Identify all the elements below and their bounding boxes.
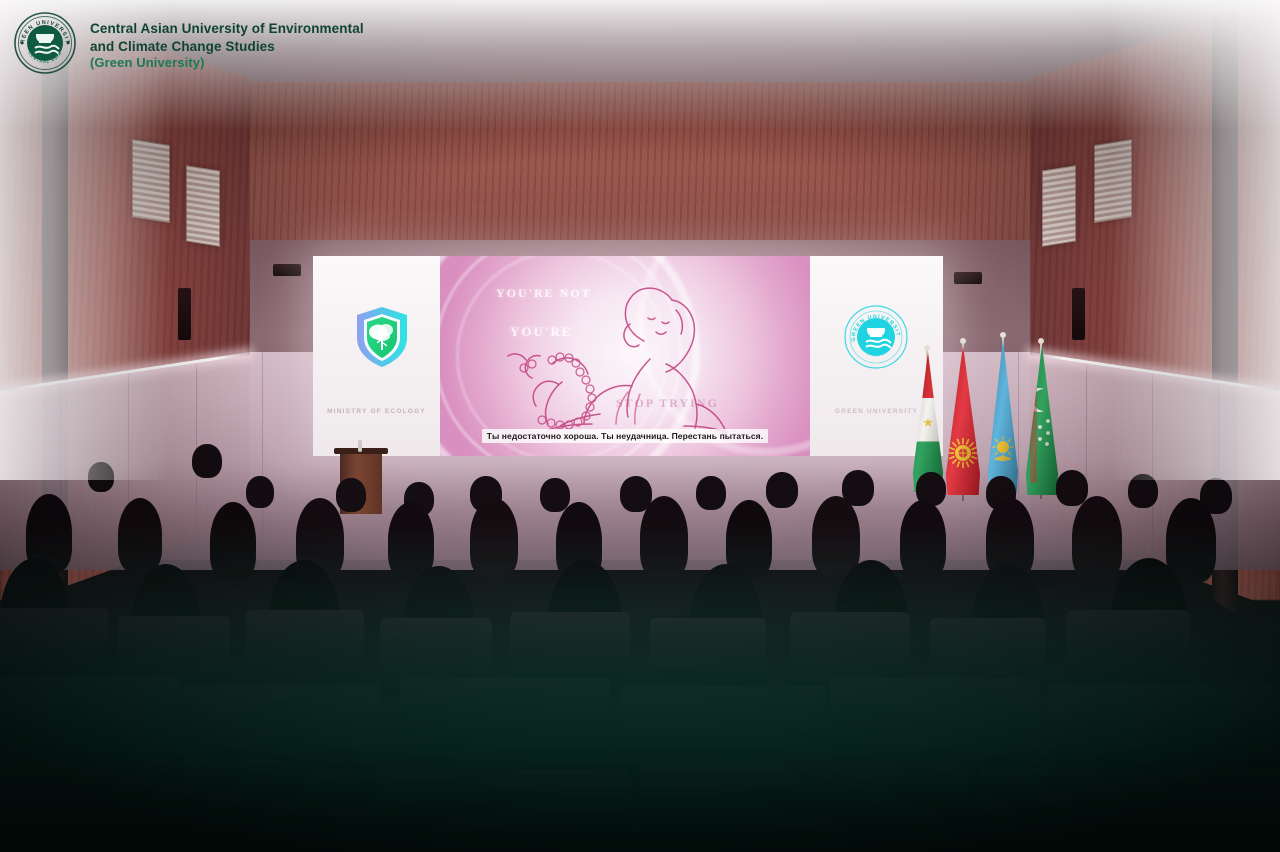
- audience-head: [470, 498, 518, 578]
- audience-head: [1166, 498, 1216, 582]
- audience-head: [336, 478, 366, 512]
- projection-screen: MINISTRY OF ECOLOGY YOU'RE NOT YOU'RE ST…: [313, 256, 943, 456]
- audience-head: [766, 472, 798, 508]
- seat-row-front: [300, 770, 630, 852]
- window-blind: [1094, 139, 1132, 223]
- seat-row-front: [0, 760, 290, 852]
- audience-head: [640, 496, 688, 578]
- audience-head: [192, 444, 222, 478]
- seat-back: [650, 618, 766, 696]
- ministry-of-ecology-caption: MINISTRY OF ECOLOGY: [313, 408, 440, 415]
- screen-video-panel: YOU'RE NOT YOU'RE STOP TRYING: [440, 256, 810, 456]
- auditorium-photo: MINISTRY OF ECOLOGY YOU'RE NOT YOU'RE ST…: [0, 0, 1280, 852]
- brand-title-line-3: (Green University): [90, 55, 364, 72]
- wall-speaker-icon: [273, 264, 301, 276]
- audience-head: [696, 476, 726, 510]
- audience-head: [246, 476, 274, 508]
- audience-head: [210, 502, 256, 580]
- wall-speaker-icon: [1072, 288, 1085, 340]
- seat-row-front: [400, 678, 610, 780]
- audience-head: [1072, 496, 1122, 580]
- audience-head: [540, 478, 570, 512]
- audience-head: [88, 462, 114, 492]
- green-university-seal-cyan-icon: GREEN UNIVERSITY CENTRAL ASIA: [843, 304, 909, 370]
- audience-head: [1128, 474, 1158, 508]
- audience-head: [118, 498, 162, 572]
- brand-header: GREEN UNIVERSITY CENTRAL ASIA Central As…: [14, 12, 364, 74]
- window-blind: [132, 139, 170, 223]
- audience-head: [1056, 470, 1088, 506]
- brand-title-line-2: and Climate Change Studies: [90, 38, 364, 56]
- audience-head: [388, 502, 434, 578]
- screen-left-panel: MINISTRY OF ECOLOGY: [313, 256, 440, 456]
- wall-speaker-icon: [954, 272, 982, 284]
- video-illustration-woman-in-chains: [440, 264, 810, 439]
- audience-head: [812, 496, 860, 576]
- seat-back: [246, 610, 364, 692]
- seat-row-front: [980, 768, 1280, 852]
- window-blind: [1042, 165, 1076, 246]
- audience-silhouettes: [0, 440, 1280, 852]
- green-university-seal-icon: GREEN UNIVERSITY CENTRAL ASIA: [14, 12, 76, 74]
- audience-head: [900, 500, 946, 578]
- window-blind: [186, 165, 220, 246]
- brand-title-block: Central Asian University of Environmenta…: [90, 12, 364, 72]
- seat-row-front: [640, 762, 970, 852]
- seat-back: [1066, 610, 1190, 694]
- brand-title-line-1: Central Asian University of Environmenta…: [90, 20, 364, 38]
- ministry-of-ecology-shield-icon: [355, 306, 409, 368]
- wall-speaker-icon: [178, 288, 191, 340]
